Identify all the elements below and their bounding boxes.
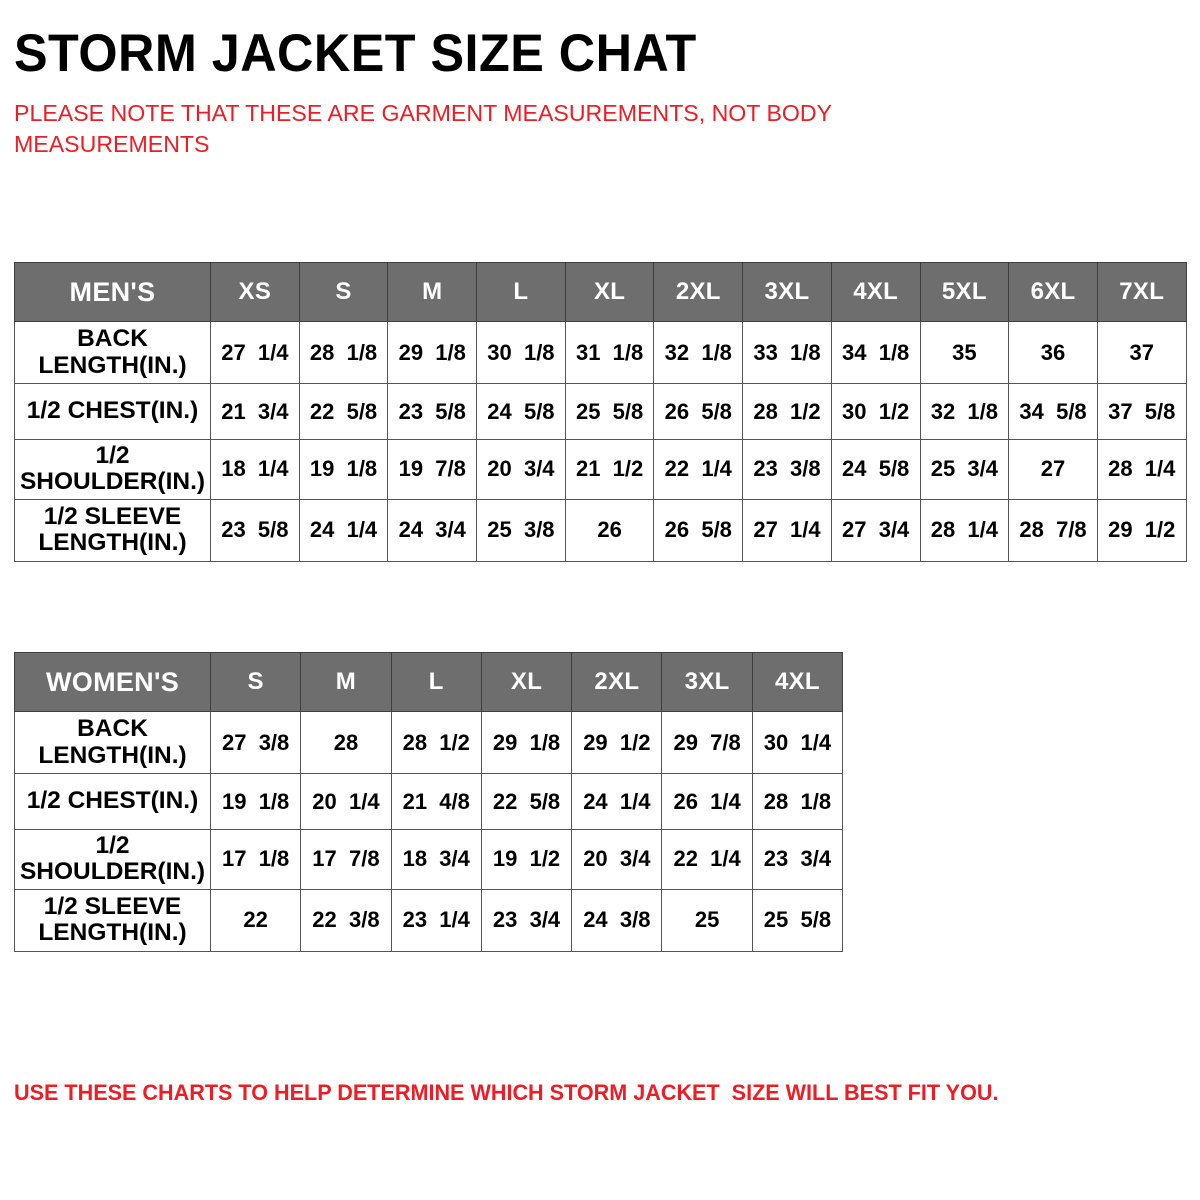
table-row: 1/2 SLEEVE LENGTH(IN.) 22 22 3/8 23 1/4 … — [15, 889, 843, 951]
womens-row-label-half-sleeve-length: 1/2 SLEEVE LENGTH(IN.) — [15, 889, 211, 951]
womens-col-header-l: L — [391, 653, 481, 712]
mens-half-shoulder-5xl: 25 3/4 — [920, 440, 1009, 500]
mens-col-header-xl: XL — [565, 263, 654, 322]
mens-half-shoulder-3xl: 23 3/8 — [743, 440, 832, 500]
womens-table-body: BACK LENGTH(IN.) 27 3/8 28 28 1/2 29 1/8… — [15, 712, 843, 952]
womens-half-chest-2xl: 24 1/4 — [572, 774, 662, 830]
mens-half-sleeve-length-xs: 23 5/8 — [211, 499, 300, 561]
womens-half-shoulder-m: 17 7/8 — [301, 830, 391, 890]
womens-col-header-m: M — [301, 653, 391, 712]
mens-row-label-half-chest: 1/2 CHEST(IN.) — [15, 384, 211, 440]
womens-back-length-3xl: 29 7/8 — [662, 712, 752, 774]
womens-row-label-back-length: BACK LENGTH(IN.) — [15, 712, 211, 774]
mens-half-chest-3xl: 28 1/2 — [743, 384, 832, 440]
size-chart-page: STORM JACKET SIZE CHAT PLEASE NOTE THAT … — [0, 0, 1200, 1200]
mens-half-shoulder-7xl: 28 1/4 — [1097, 440, 1186, 500]
mens-col-header-2xl: 2XL — [654, 263, 743, 322]
womens-half-sleeve-length-s: 22 — [211, 889, 301, 951]
table-row: 1/2 CHEST(IN.) 21 3/4 22 5/8 23 5/8 24 5… — [15, 384, 1187, 440]
womens-half-shoulder-l: 18 3/4 — [391, 830, 481, 890]
mens-half-chest-6xl: 34 5/8 — [1009, 384, 1098, 440]
mens-half-shoulder-xs: 18 1/4 — [211, 440, 300, 500]
mens-half-shoulder-6xl: 27 — [1009, 440, 1098, 500]
mens-half-chest-xl: 25 5/8 — [565, 384, 654, 440]
mens-half-chest-l: 24 5/8 — [477, 384, 566, 440]
mens-table-body: BACK LENGTH(IN.) 27 1/4 28 1/8 29 1/8 30… — [15, 322, 1187, 562]
womens-half-chest-s: 19 1/8 — [211, 774, 301, 830]
womens-half-chest-m: 20 1/4 — [301, 774, 391, 830]
womens-col-header-4xl: 4XL — [752, 653, 842, 712]
mens-back-length-l: 30 1/8 — [477, 322, 566, 384]
mens-size-table: MEN'S XS S M L XL 2XL 3XL 4XL 5XL 6XL 7X… — [14, 262, 1187, 562]
womens-row-label-half-chest: 1/2 CHEST(IN.) — [15, 774, 211, 830]
womens-row-label-half-shoulder: 1/2 SHOULDER(IN.) — [15, 830, 211, 890]
womens-half-sleeve-length-m: 22 3/8 — [301, 889, 391, 951]
mens-back-length-7xl: 37 — [1097, 322, 1186, 384]
mens-half-sleeve-length-5xl: 28 1/4 — [920, 499, 1009, 561]
mens-half-chest-4xl: 30 1/2 — [831, 384, 920, 440]
mens-row-label-back-length: BACK LENGTH(IN.) — [15, 322, 211, 384]
womens-col-header-xl: XL — [481, 653, 571, 712]
mens-half-sleeve-length-4xl: 27 3/4 — [831, 499, 920, 561]
womens-back-length-l: 28 1/2 — [391, 712, 481, 774]
mens-col-header-l: L — [477, 263, 566, 322]
mens-table-head: MEN'S XS S M L XL 2XL 3XL 4XL 5XL 6XL 7X… — [15, 263, 1187, 322]
womens-col-header-s: S — [211, 653, 301, 712]
mens-half-chest-s: 22 5/8 — [299, 384, 388, 440]
mens-half-sleeve-length-l: 25 3/8 — [477, 499, 566, 561]
garment-measurement-note: PLEASE NOTE THAT THESE ARE GARMENT MEASU… — [14, 80, 950, 160]
mens-half-chest-2xl: 26 5/8 — [654, 384, 743, 440]
mens-half-shoulder-s: 19 1/8 — [299, 440, 388, 500]
womens-corner-label: WOMEN'S — [15, 653, 211, 712]
womens-half-chest-4xl: 28 1/8 — [752, 774, 842, 830]
mens-half-sleeve-length-2xl: 26 5/8 — [654, 499, 743, 561]
womens-back-length-2xl: 29 1/2 — [572, 712, 662, 774]
mens-half-sleeve-length-6xl: 28 7/8 — [1009, 499, 1098, 561]
womens-half-chest-l: 21 4/8 — [391, 774, 481, 830]
mens-corner-label: MEN'S — [15, 263, 211, 322]
mens-half-chest-7xl: 37 5/8 — [1097, 384, 1186, 440]
mens-size-table-container: MEN'S XS S M L XL 2XL 3XL 4XL 5XL 6XL 7X… — [14, 262, 1187, 562]
mens-back-length-m: 29 1/8 — [388, 322, 477, 384]
table-row: BACK LENGTH(IN.) 27 3/8 28 28 1/2 29 1/8… — [15, 712, 843, 774]
womens-half-shoulder-2xl: 20 3/4 — [572, 830, 662, 890]
mens-back-length-xl: 31 1/8 — [565, 322, 654, 384]
womens-half-sleeve-length-2xl: 24 3/8 — [572, 889, 662, 951]
womens-back-length-xl: 29 1/8 — [481, 712, 571, 774]
womens-half-chest-3xl: 26 1/4 — [662, 774, 752, 830]
womens-half-chest-xl: 22 5/8 — [481, 774, 571, 830]
mens-header-row: MEN'S XS S M L XL 2XL 3XL 4XL 5XL 6XL 7X… — [15, 263, 1187, 322]
mens-back-length-s: 28 1/8 — [299, 322, 388, 384]
womens-back-length-m: 28 — [301, 712, 391, 774]
mens-col-header-4xl: 4XL — [831, 263, 920, 322]
mens-col-header-3xl: 3XL — [743, 263, 832, 322]
mens-half-sleeve-length-7xl: 29 1/2 — [1097, 499, 1186, 561]
mens-half-shoulder-2xl: 22 1/4 — [654, 440, 743, 500]
womens-half-sleeve-length-l: 23 1/4 — [391, 889, 481, 951]
mens-half-sleeve-length-m: 24 3/4 — [388, 499, 477, 561]
mens-back-length-xs: 27 1/4 — [211, 322, 300, 384]
mens-row-label-half-sleeve-length: 1/2 SLEEVE LENGTH(IN.) — [15, 499, 211, 561]
table-row: BACK LENGTH(IN.) 27 1/4 28 1/8 29 1/8 30… — [15, 322, 1187, 384]
womens-col-header-3xl: 3XL — [662, 653, 752, 712]
womens-back-length-4xl: 30 1/4 — [752, 712, 842, 774]
mens-half-sleeve-length-3xl: 27 1/4 — [743, 499, 832, 561]
mens-half-chest-m: 23 5/8 — [388, 384, 477, 440]
mens-row-label-half-shoulder: 1/2 SHOULDER(IN.) — [15, 440, 211, 500]
womens-half-sleeve-length-3xl: 25 — [662, 889, 752, 951]
mens-back-length-2xl: 32 1/8 — [654, 322, 743, 384]
mens-half-sleeve-length-xl: 26 — [565, 499, 654, 561]
mens-half-chest-xs: 21 3/4 — [211, 384, 300, 440]
womens-half-sleeve-length-4xl: 25 5/8 — [752, 889, 842, 951]
womens-half-shoulder-xl: 19 1/2 — [481, 830, 571, 890]
mens-col-header-7xl: 7XL — [1097, 263, 1186, 322]
womens-half-shoulder-3xl: 22 1/4 — [662, 830, 752, 890]
womens-half-sleeve-length-xl: 23 3/4 — [481, 889, 571, 951]
table-row: 1/2 CHEST(IN.) 19 1/8 20 1/4 21 4/8 22 5… — [15, 774, 843, 830]
mens-back-length-5xl: 35 — [920, 322, 1009, 384]
mens-half-sleeve-length-s: 24 1/4 — [299, 499, 388, 561]
table-row: 1/2 SHOULDER(IN.) 17 1/8 17 7/8 18 3/4 1… — [15, 830, 843, 890]
mens-back-length-3xl: 33 1/8 — [743, 322, 832, 384]
mens-col-header-xs: XS — [211, 263, 300, 322]
mens-back-length-4xl: 34 1/8 — [831, 322, 920, 384]
page-title: STORM JACKET SIZE CHAT — [14, 0, 1127, 80]
mens-half-shoulder-l: 20 3/4 — [477, 440, 566, 500]
mens-col-header-m: M — [388, 263, 477, 322]
mens-half-chest-5xl: 32 1/8 — [920, 384, 1009, 440]
womens-size-table-container: WOMEN'S S M L XL 2XL 3XL 4XL BACK LENGTH… — [14, 652, 843, 952]
womens-size-table: WOMEN'S S M L XL 2XL 3XL 4XL BACK LENGTH… — [14, 652, 843, 952]
table-row: 1/2 SLEEVE LENGTH(IN.) 23 5/8 24 1/4 24 … — [15, 499, 1187, 561]
table-row: 1/2 SHOULDER(IN.) 18 1/4 19 1/8 19 7/8 2… — [15, 440, 1187, 500]
womens-header-row: WOMEN'S S M L XL 2XL 3XL 4XL — [15, 653, 843, 712]
mens-col-header-s: S — [299, 263, 388, 322]
womens-half-shoulder-4xl: 23 3/4 — [752, 830, 842, 890]
mens-back-length-6xl: 36 — [1009, 322, 1098, 384]
womens-back-length-s: 27 3/8 — [211, 712, 301, 774]
womens-col-header-2xl: 2XL — [572, 653, 662, 712]
use-chart-note: USE THESE CHARTS TO HELP DETERMINE WHICH… — [14, 1079, 998, 1107]
mens-col-header-6xl: 6XL — [1009, 263, 1098, 322]
womens-half-shoulder-s: 17 1/8 — [211, 830, 301, 890]
mens-half-shoulder-xl: 21 1/2 — [565, 440, 654, 500]
mens-col-header-5xl: 5XL — [920, 263, 1009, 322]
womens-table-head: WOMEN'S S M L XL 2XL 3XL 4XL — [15, 653, 843, 712]
mens-half-shoulder-4xl: 24 5/8 — [831, 440, 920, 500]
mens-half-shoulder-m: 19 7/8 — [388, 440, 477, 500]
